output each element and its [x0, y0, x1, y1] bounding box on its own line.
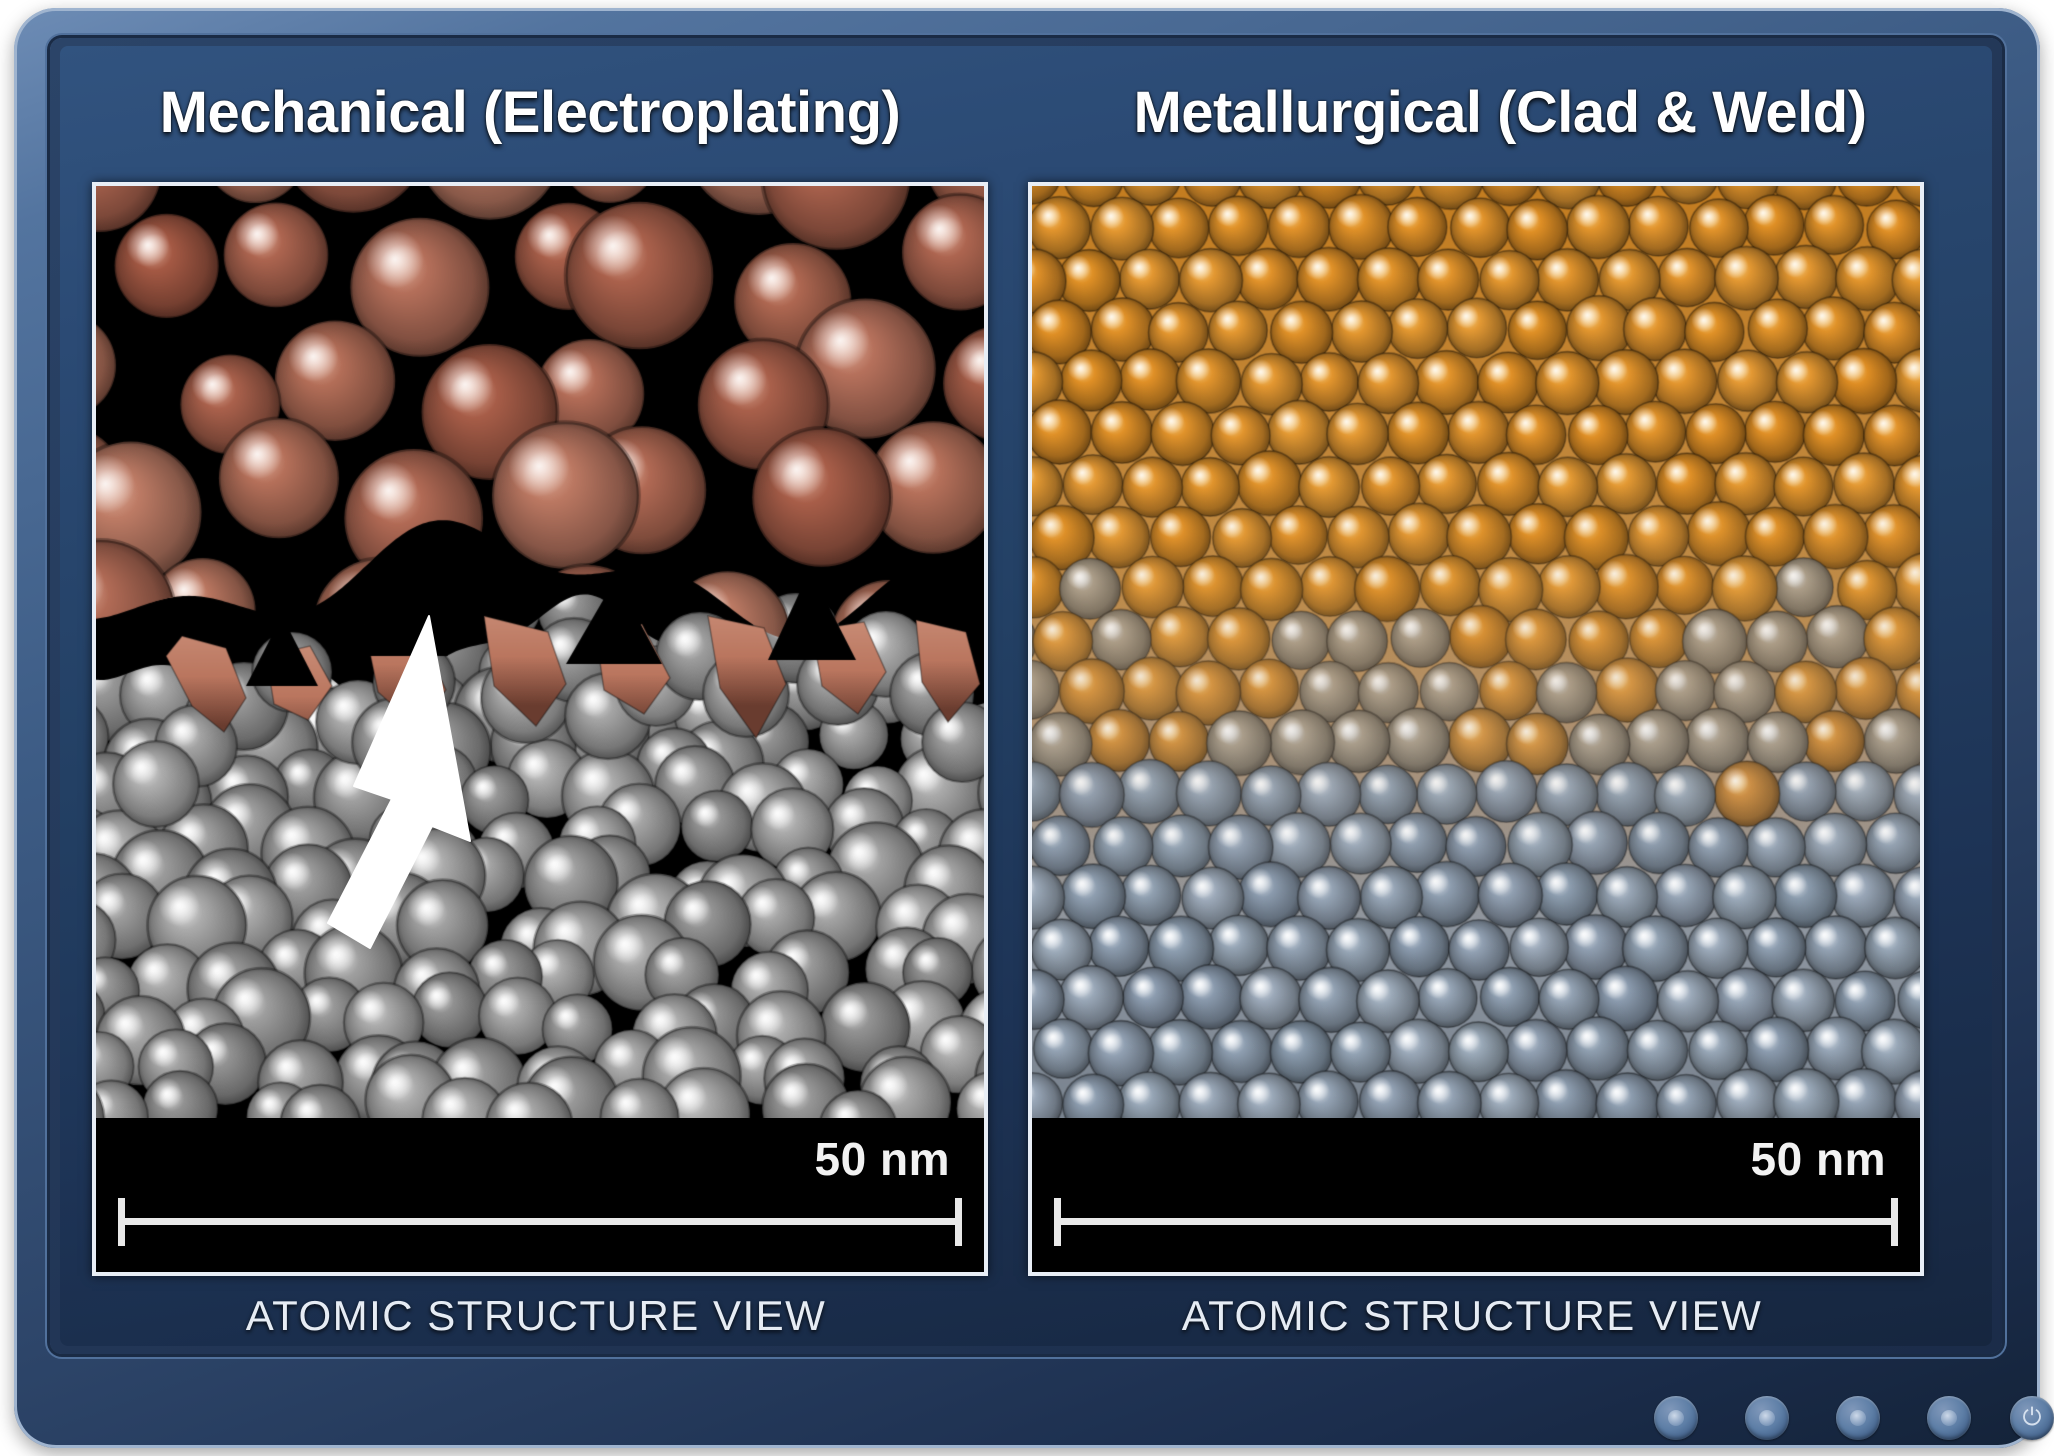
screenshot-root: Mechanical (Electroplating) Metallurgica… — [0, 0, 2054, 1456]
scale-label-metallurgical: 50 nm — [1751, 1132, 1886, 1186]
scale-tick-left — [1054, 1198, 1061, 1246]
menu-icon — [1668, 1410, 1684, 1426]
minus-button[interactable] — [1745, 1396, 1789, 1440]
panel-title-mechanical: Mechanical (Electroplating) — [70, 68, 990, 158]
panel-mechanical[interactable]: 50 nm — [92, 182, 988, 1276]
scale-bar-line — [1054, 1218, 1898, 1225]
scale-bar-line — [118, 1218, 962, 1225]
scale-bar-metallurgical: 50 nm — [1032, 1122, 1920, 1272]
select-button[interactable] — [1927, 1396, 1971, 1440]
scale-tick-right — [955, 1198, 962, 1246]
select-icon — [1941, 1410, 1957, 1426]
scale-bar-mechanical: 50 nm — [96, 1122, 984, 1272]
scale-tick-left — [118, 1198, 125, 1246]
scale-label-mechanical: 50 nm — [815, 1132, 950, 1186]
menu-button[interactable] — [1654, 1396, 1698, 1440]
power-icon: ⏻ — [2019, 1405, 2045, 1431]
atomic-view-mechanical — [96, 186, 984, 1118]
panel-metallurgical[interactable]: 50 nm — [1028, 182, 1924, 1276]
titles-row: Mechanical (Electroplating) Metallurgica… — [60, 46, 1992, 180]
caption-metallurgical: ATOMIC STRUCTURE VIEW — [1028, 1288, 1916, 1344]
monitor-screen: Mechanical (Electroplating) Metallurgica… — [60, 46, 1992, 1346]
monitor-shell: Mechanical (Electroplating) Metallurgica… — [14, 8, 2040, 1448]
plus-button[interactable] — [1836, 1396, 1880, 1440]
monitor-button-strip: ⏻ — [1654, 1390, 2054, 1448]
caption-mechanical: ATOMIC STRUCTURE VIEW — [92, 1288, 980, 1344]
scale-tick-right — [1891, 1198, 1898, 1246]
atomic-view-metallurgical — [1032, 186, 1920, 1118]
minus-icon — [1759, 1410, 1775, 1426]
panel-title-metallurgical: Metallurgical (Clad & Weld) — [1020, 68, 1980, 158]
power-button[interactable]: ⏻ — [2010, 1396, 2054, 1440]
plus-icon — [1850, 1410, 1866, 1426]
